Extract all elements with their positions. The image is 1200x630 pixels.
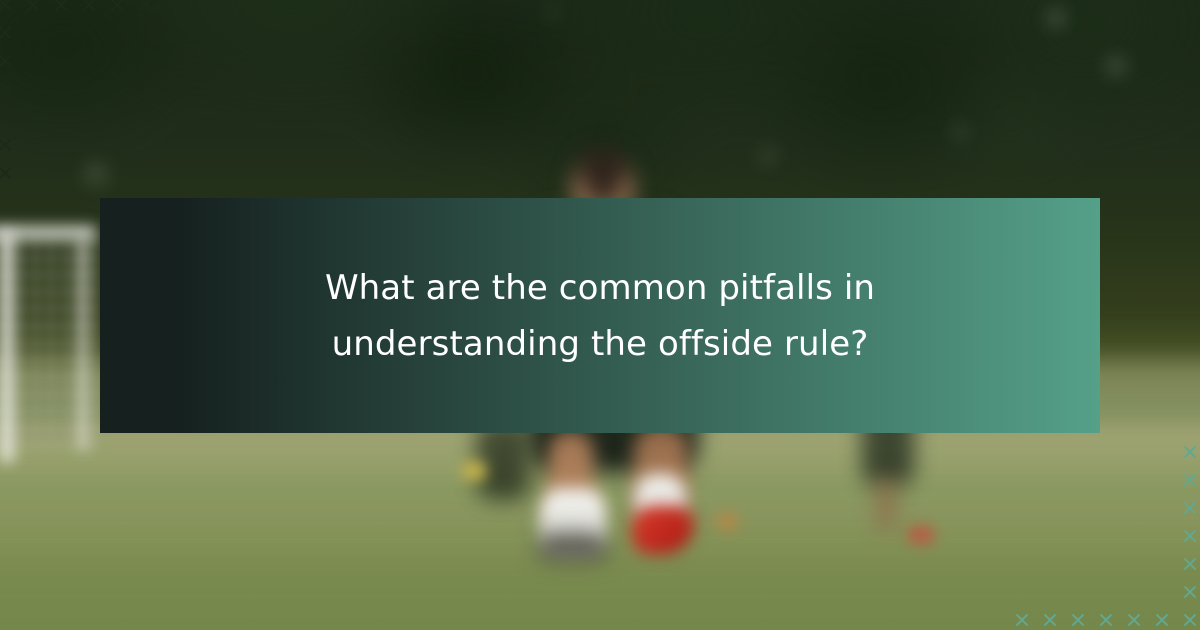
training-cone	[908, 526, 934, 544]
player-left-boot	[538, 532, 608, 560]
training-cone	[716, 514, 738, 530]
social-card-canvas: What are the common pitfalls in understa…	[0, 0, 1200, 630]
question-card: What are the common pitfalls in understa…	[100, 198, 1100, 433]
goal-upright	[0, 232, 14, 462]
background-player-leg	[876, 476, 896, 532]
page-title: What are the common pitfalls in understa…	[160, 260, 1040, 372]
goal-upright-rear	[78, 238, 88, 450]
training-cone	[462, 462, 486, 480]
grass-band	[0, 560, 1200, 630]
